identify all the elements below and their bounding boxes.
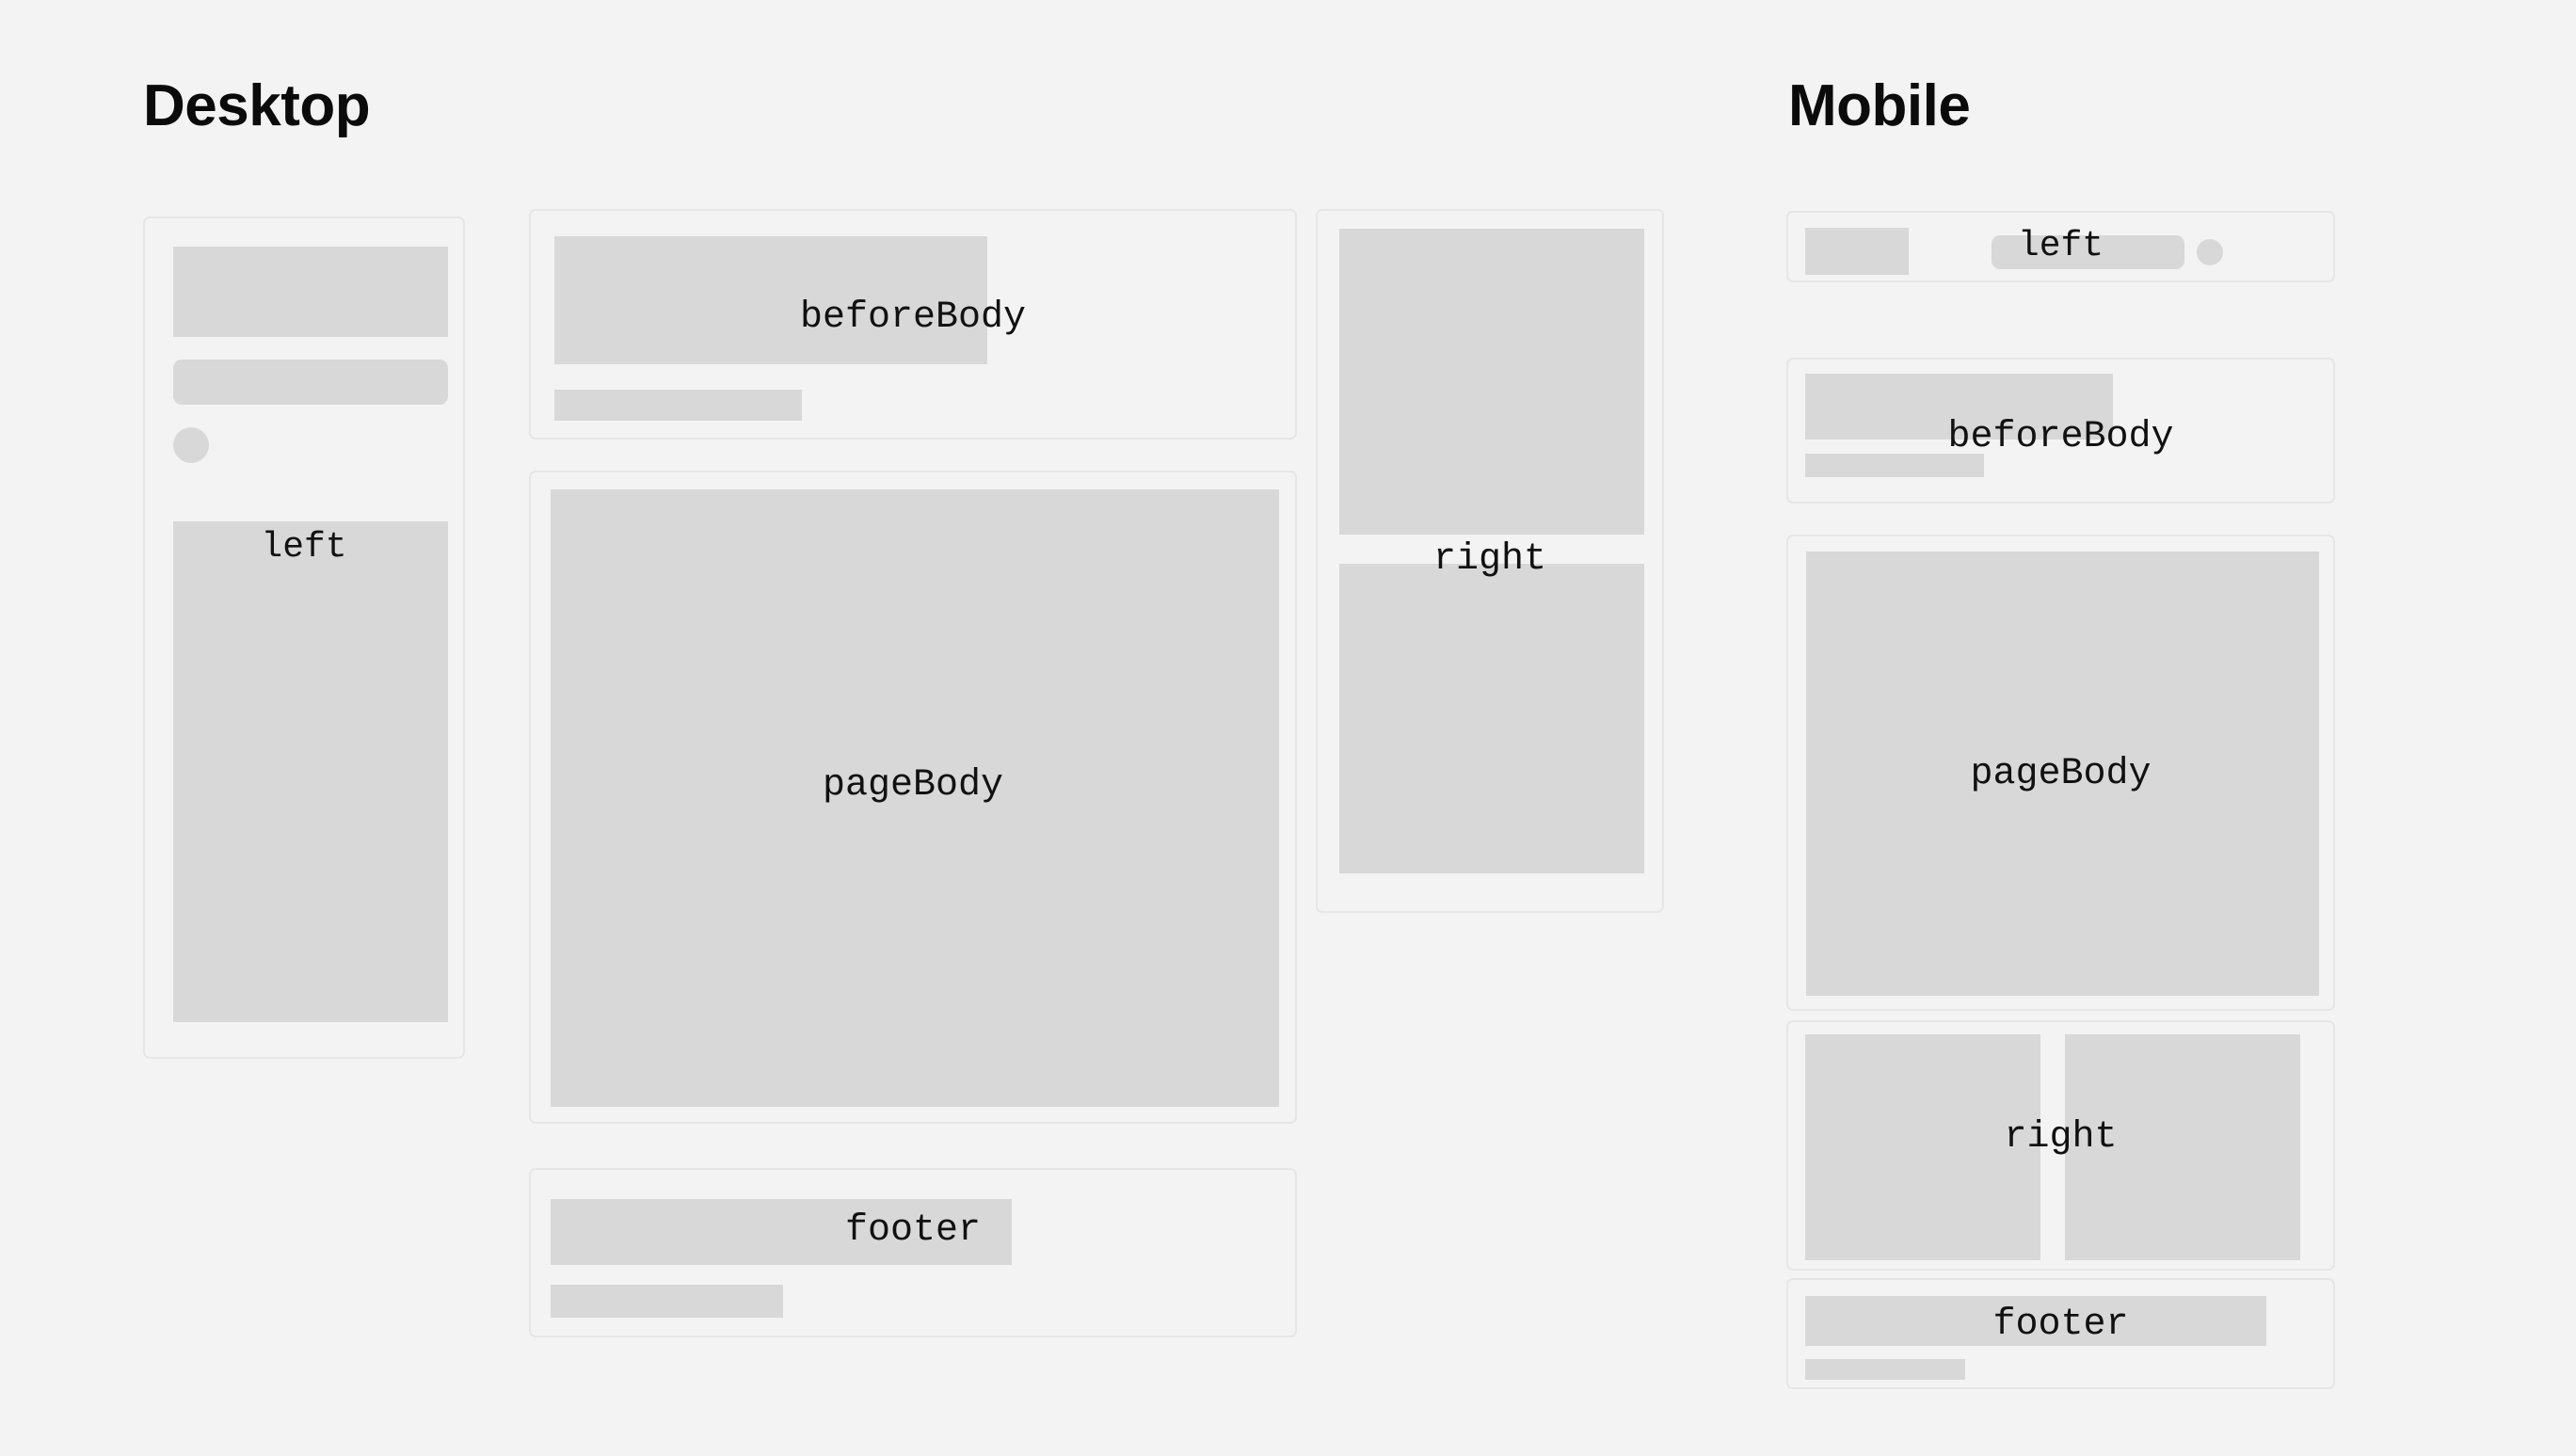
placeholder-avatar-circle [173, 427, 209, 463]
placeholder-block [1805, 1034, 2040, 1260]
placeholder-block [1805, 454, 1984, 477]
desktop-left-region-card[interactable] [143, 216, 465, 1059]
placeholder-block [1992, 235, 2184, 269]
mobile-footer-region-card[interactable] [1786, 1278, 2335, 1389]
placeholder-block [1805, 228, 1909, 275]
mobile-section-title: Mobile [1788, 77, 1970, 136]
placeholder-block [2065, 1034, 2300, 1260]
desktop-section-title: Desktop [143, 77, 370, 136]
placeholder-block [1805, 374, 2113, 440]
layout-preview-canvas: Desktop left beforeBody pageBody footer … [0, 0, 2576, 1456]
placeholder-block [173, 521, 448, 1022]
placeholder-avatar-circle [2197, 239, 2223, 265]
placeholder-block [1805, 1359, 1965, 1380]
placeholder-block [173, 247, 448, 337]
placeholder-block [1339, 564, 1644, 873]
placeholder-block [554, 236, 987, 364]
mobile-beforebody-region-card[interactable] [1786, 358, 2335, 504]
placeholder-block [551, 1285, 783, 1318]
mobile-right-region-card[interactable] [1786, 1020, 2335, 1271]
placeholder-block [554, 390, 802, 421]
desktop-footer-region-card[interactable] [529, 1168, 1297, 1337]
desktop-beforebody-region-card[interactable] [529, 209, 1297, 440]
mobile-left-region-card[interactable] [1786, 211, 2335, 282]
placeholder-block [1805, 1296, 2266, 1346]
mobile-pagebody-region-card[interactable] [1786, 535, 2335, 1011]
desktop-right-region-card[interactable] [1316, 209, 1664, 913]
placeholder-block [1806, 552, 2319, 996]
placeholder-block [551, 489, 1279, 1107]
desktop-pagebody-region-card[interactable] [529, 471, 1297, 1124]
placeholder-block [173, 360, 448, 405]
placeholder-block [551, 1199, 1012, 1265]
placeholder-block [1339, 229, 1644, 535]
